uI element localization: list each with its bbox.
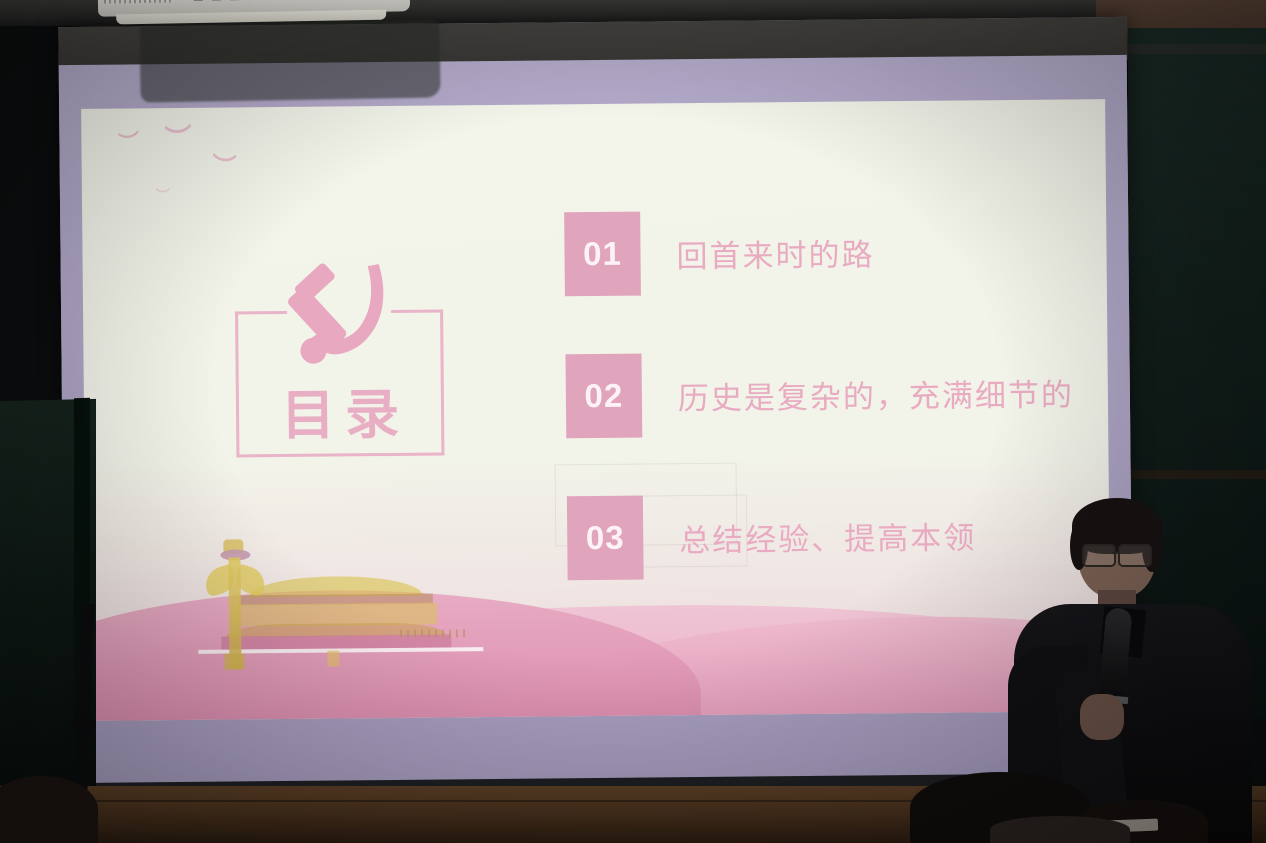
agenda-number-box-03: 03 (567, 496, 644, 581)
chalkboard-divider (1128, 470, 1266, 479)
eyeglasses-bridge (1112, 552, 1120, 554)
hammer-and-sickle-icon (275, 258, 406, 387)
projector-shadow (139, 19, 440, 102)
agenda-label-03: 总结经验、提高本领 (679, 512, 976, 560)
agenda-number-02: 02 (584, 377, 623, 415)
bird-icon: ︶ (211, 155, 237, 181)
projection-screen: ︶ ︶ ︶ ︶ 目录 (58, 17, 1133, 797)
agenda-item-01[interactable]: 01 回首来时的路 (564, 203, 1085, 300)
contents-emblem-block: 目录 (235, 265, 447, 467)
presentation-slide: ︶ ︶ ︶ ︶ 目录 (81, 99, 1111, 721)
agenda-label-02: 历史是复杂的，充满细节的 (678, 369, 1074, 418)
agenda-label-01: 回首来时的路 (676, 229, 874, 276)
tripod-knob (72, 716, 96, 733)
huabiao-column-icon (207, 541, 256, 669)
eyeglasses-right-lens (1118, 544, 1152, 567)
chalkboard-rail (1128, 44, 1266, 54)
eyeglasses-left-lens (1082, 544, 1116, 567)
agenda-number-03: 03 (586, 519, 625, 557)
presenter-hand (1080, 694, 1124, 740)
agenda-item-02[interactable]: 02 历史是复杂的，充满细节的 (565, 345, 1086, 442)
bird-icon: ︶ (118, 131, 142, 155)
bird-icon: ︶ (156, 188, 170, 202)
classroom-scene: ︶ ︶ ︶ ︶ 目录 (0, 0, 1266, 843)
agenda-number-01: 01 (583, 235, 622, 273)
audience-head (990, 816, 1130, 843)
agenda-number-box-01: 01 (564, 212, 641, 297)
contents-title: 目录 (236, 369, 445, 450)
audience-head (0, 776, 98, 843)
bird-icon: ︶ (164, 125, 193, 154)
agenda-number-box-02: 02 (565, 354, 642, 439)
